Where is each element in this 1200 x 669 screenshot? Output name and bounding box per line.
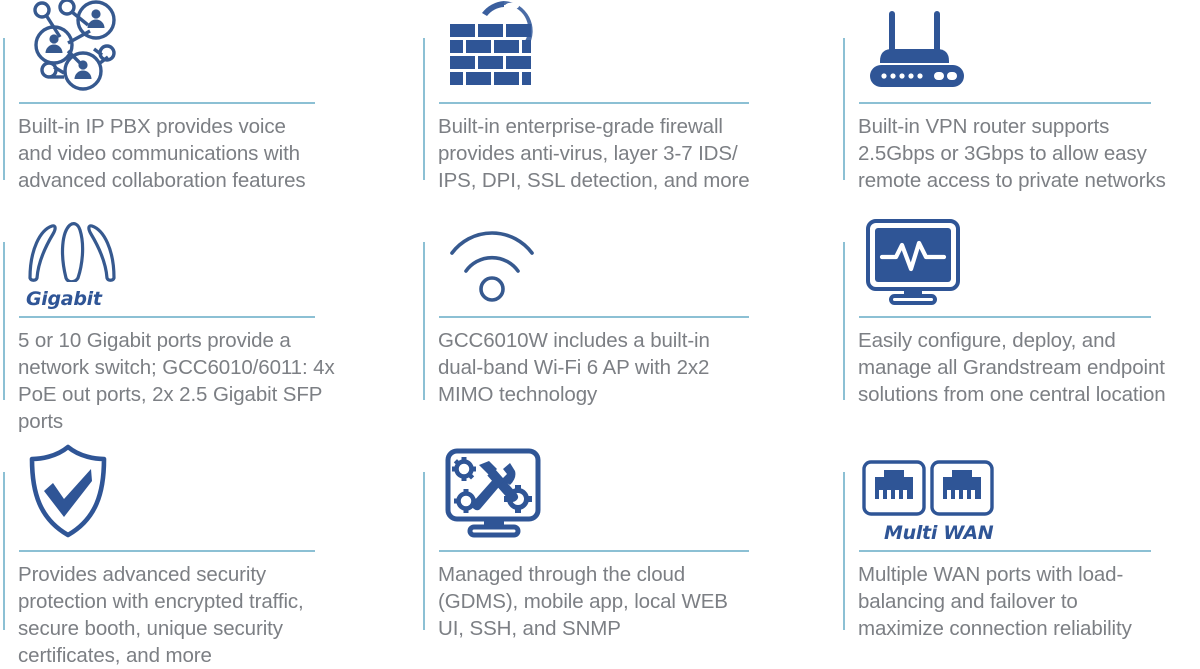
divider-rule xyxy=(19,550,315,552)
divider-rule xyxy=(19,316,315,318)
divider-rule xyxy=(439,550,749,552)
divider-rule xyxy=(859,550,1151,552)
gigabit-speed-icon xyxy=(22,220,122,287)
monitor-pulse-icon xyxy=(862,217,966,310)
accent-vertical-rule xyxy=(3,472,5,630)
icon-area: Gigabit xyxy=(18,206,420,310)
feature-card-security: Provides advanced security protection wi… xyxy=(0,436,420,648)
feature-grid: Built-in IP PBX provides voice and video… xyxy=(0,0,1200,648)
accent-vertical-rule xyxy=(423,242,425,400)
feature-card-central-management: Easily configure, deploy, and manage all… xyxy=(840,206,1200,436)
feature-description: Easily configure, deploy, and manage all… xyxy=(858,327,1200,408)
accent-vertical-rule xyxy=(423,472,425,630)
icon-area xyxy=(18,436,420,544)
feature-description: 5 or 10 Gigabit ports provide a network … xyxy=(18,327,370,435)
feature-description: Multiple WAN ports with load- balancing … xyxy=(858,561,1200,642)
icon-area xyxy=(438,0,840,96)
feature-card-gigabit-ports: Gigabit 5 or 10 Gigabit ports provide a … xyxy=(0,206,420,436)
divider-rule xyxy=(19,102,315,104)
rj45-dual-port-icon xyxy=(862,460,994,521)
feature-description: Built-in VPN router supports 2.5Gbps or … xyxy=(858,113,1200,194)
icon-area xyxy=(858,206,1200,310)
divider-rule xyxy=(859,316,1151,318)
feature-card-firewall: Built-in enterprise-grade firewall provi… xyxy=(420,0,840,206)
icon-area: Multi WAN xyxy=(858,436,1200,544)
feature-description: Managed through the cloud (GDMS), mobile… xyxy=(438,561,790,642)
vpn-router-icon xyxy=(862,3,972,96)
accent-vertical-rule xyxy=(843,472,845,630)
feature-card-vpn-router: Built-in VPN router supports 2.5Gbps or … xyxy=(840,0,1200,206)
icon-area xyxy=(438,436,840,544)
feature-card-cloud-management: Managed through the cloud (GDMS), mobile… xyxy=(420,436,840,648)
firewall-brickwall-globe-icon xyxy=(442,0,540,96)
shield-check-icon xyxy=(22,443,114,544)
icon-caption-multi-wan: Multi WAN xyxy=(862,522,993,544)
divider-rule xyxy=(439,102,749,104)
feature-description: Built-in IP PBX provides voice and video… xyxy=(18,113,370,194)
divider-rule xyxy=(439,316,749,318)
feature-description: Provides advanced security protection wi… xyxy=(18,561,370,669)
wifi-icon xyxy=(442,219,546,310)
accent-vertical-rule xyxy=(3,38,5,180)
feature-card-ip-pbx: Built-in IP PBX provides voice and video… xyxy=(0,0,420,206)
people-network-icon xyxy=(22,0,122,96)
feature-card-multi-wan: Multi WAN Multiple WAN ports with load- … xyxy=(840,436,1200,648)
accent-vertical-rule xyxy=(3,242,5,400)
accent-vertical-rule xyxy=(843,38,845,180)
icon-area xyxy=(858,0,1200,96)
accent-vertical-rule xyxy=(843,242,845,400)
feature-description: GCC6010W includes a built-in dual-band W… xyxy=(438,327,790,408)
icon-area xyxy=(438,206,840,310)
monitor-tools-gears-icon xyxy=(442,447,546,544)
accent-vertical-rule xyxy=(423,38,425,180)
divider-rule xyxy=(859,102,1151,104)
feature-card-wifi-6: GCC6010W includes a built-in dual-band W… xyxy=(420,206,840,436)
icon-caption-gigabit: Gigabit xyxy=(22,288,102,310)
feature-description: Built-in enterprise-grade firewall provi… xyxy=(438,113,790,194)
icon-area xyxy=(18,0,420,96)
